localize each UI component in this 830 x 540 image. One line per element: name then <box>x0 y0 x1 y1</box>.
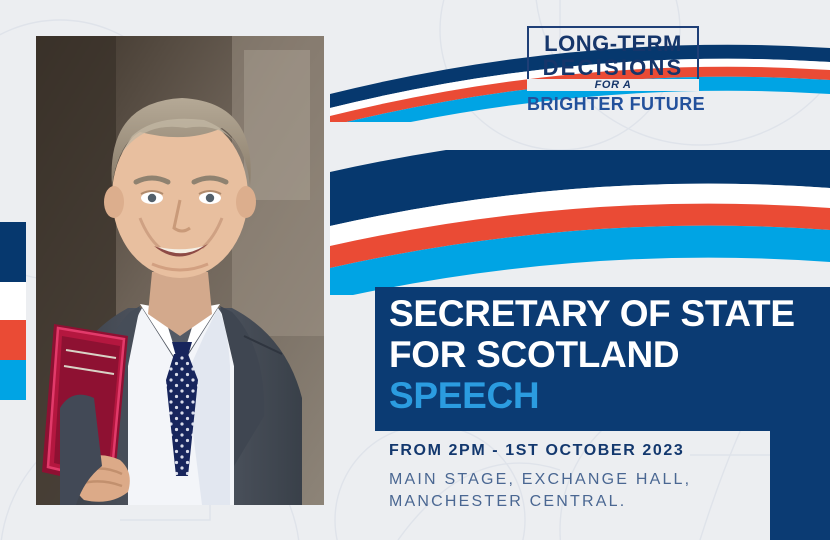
title-line-2: FOR SCOTLAND <box>389 334 830 375</box>
wave-ribbon-main <box>330 150 830 295</box>
venue-line-1: MAIN STAGE, EXCHANGE HALL, <box>389 469 819 491</box>
event-details: FROM 2PM - 1ST OCTOBER 2023 MAIN STAGE, … <box>389 442 819 513</box>
logo-line-decisions: DECISIONS <box>527 55 699 81</box>
logo-connector-for-a: FOR A <box>527 79 699 91</box>
event-title: SECRETARY OF STATE FOR SCOTLAND SPEECH <box>389 293 830 416</box>
event-date-time: FROM 2PM - 1ST OCTOBER 2023 <box>389 442 819 460</box>
venue-line-2: MANCHESTER CENTRAL. <box>389 491 819 513</box>
long-term-decisions-logo: LONG-TERM DECISIONS FOR A BRIGHTER FUTUR… <box>527 26 703 112</box>
event-poster: LONG-TERM DECISIONS FOR A BRIGHTER FUTUR… <box>0 0 830 540</box>
title-panel: SECRETARY OF STATE FOR SCOTLAND SPEECH <box>375 287 830 431</box>
logo-line-long-term: LONG-TERM <box>527 31 699 57</box>
title-line-3-speech: SPEECH <box>389 375 830 416</box>
title-line-1: SECRETARY OF STATE <box>389 293 830 334</box>
wave-ribbon-left <box>0 222 26 400</box>
event-venue: MAIN STAGE, EXCHANGE HALL, MANCHESTER CE… <box>389 469 819 513</box>
logo-line-brighter-future: BRIGHTER FUTURE <box>527 94 703 115</box>
speaker-photo <box>36 36 324 505</box>
